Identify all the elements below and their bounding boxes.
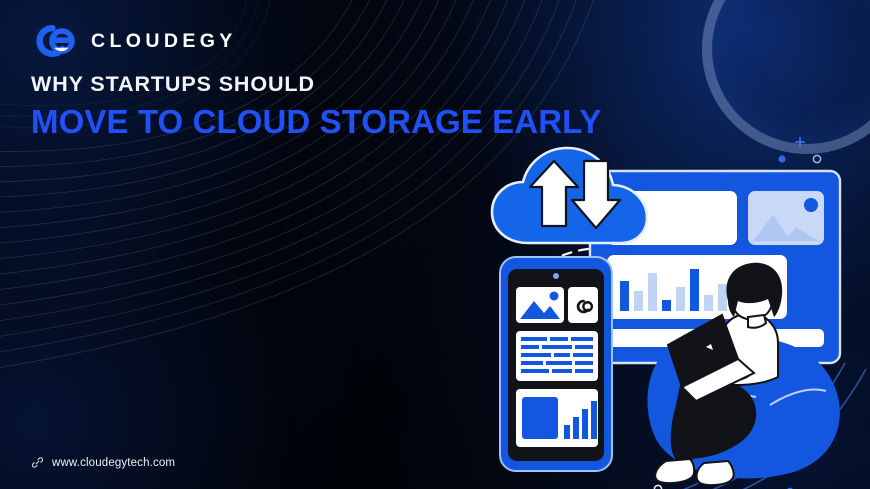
- sparkle-icon: [795, 137, 805, 147]
- promo-banner: CLOUDEGY WHY STARTUPS SHOULD MOVE TO CLO…: [0, 0, 870, 489]
- cloud-storage-illustration: [470, 129, 870, 489]
- phone-logo-tile: [568, 287, 598, 323]
- ce-monogram-icon: [30, 21, 78, 61]
- headline-block: WHY STARTUPS SHOULD MOVE TO CLOUD STORAG…: [31, 74, 602, 138]
- illustration-canvas: [470, 129, 870, 489]
- phone-text-lines: [516, 331, 598, 381]
- brand-logo[interactable]: CLOUDEGY: [30, 21, 237, 61]
- brand-name: CLOUDEGY: [91, 30, 237, 53]
- smartphone: [500, 257, 612, 471]
- link-chain-icon: [31, 456, 44, 469]
- phone-bar-chart: [516, 389, 598, 447]
- dot-filled: [778, 155, 785, 162]
- cloud-icon: [492, 148, 647, 243]
- dot-outline: [813, 155, 820, 162]
- website-url: www.cloudegytech.com: [52, 457, 175, 469]
- phone-image-tile: [516, 287, 564, 323]
- footer-website[interactable]: www.cloudegytech.com: [31, 456, 175, 469]
- headline-kicker: WHY STARTUPS SHOULD: [31, 74, 602, 96]
